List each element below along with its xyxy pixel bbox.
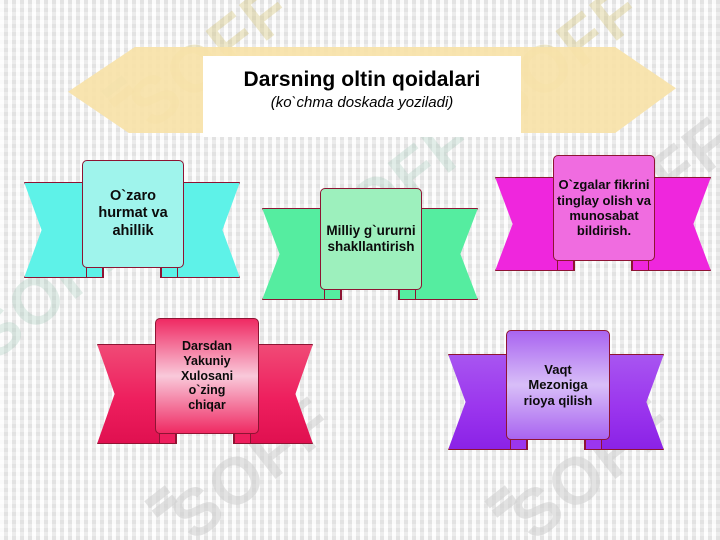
banner-line: Xulosani	[181, 369, 233, 384]
banner-line: Vaqt	[544, 362, 571, 377]
banner-line: ahillik	[112, 223, 153, 240]
banner-line: o`zing	[189, 383, 226, 398]
banner-hurmat[interactable]: O`zaro hurmat va ahillik	[24, 160, 240, 278]
banner-line: bildirish.	[577, 223, 631, 238]
banner-line: Yakuniy	[183, 354, 230, 369]
banner-line: munosabat	[569, 208, 638, 223]
banner-ozgalar-fikri[interactable]: O`zgalar fikrini tinglay olish va munosa…	[495, 155, 711, 271]
banner-milliy-gurur[interactable]: Milliy g`ururni shakllantirish	[262, 188, 478, 300]
banner-line: O`zaro	[110, 188, 156, 205]
banner-line: shakllantirish	[327, 239, 414, 255]
banner-line: hurmat va	[98, 205, 167, 222]
banner-panel: O`zgalar fikrini tinglay olish va munosa…	[553, 155, 655, 261]
banner-xulosa[interactable]: Darsdan Yakuniy Xulosani o`zing chiqar	[97, 318, 313, 444]
banner-line: Mezoniga	[528, 377, 587, 392]
banner-line: Darsdan	[182, 339, 232, 354]
banner-panel: Darsdan Yakuniy Xulosani o`zing chiqar	[155, 318, 259, 434]
banner-line: chiqar	[188, 398, 226, 413]
title-box: Darsning oltin qoidalari (ko`chma doskad…	[203, 56, 521, 137]
page-title: Darsning oltin qoidalari	[244, 69, 481, 91]
banner-line: O`zgalar fikrini	[558, 177, 649, 192]
banner-line: Milliy g`ururni	[326, 223, 415, 239]
banner-panel: Milliy g`ururni shakllantirish	[320, 188, 422, 290]
banner-panel: O`zaro hurmat va ahillik	[82, 160, 184, 268]
page-subtitle: (ko`chma doskada yoziladi)	[271, 94, 454, 111]
banner-line: tinglay olish va	[557, 193, 651, 208]
banner-line: rioya qilish	[524, 393, 593, 408]
banner-vaqt[interactable]: Vaqt Mezoniga rioya qilish	[448, 330, 664, 450]
slide-canvas: SOFF SOFF SOFF SOFF SOFF SOFF SOFF Darsn…	[0, 0, 720, 540]
banner-panel: Vaqt Mezoniga rioya qilish	[506, 330, 610, 440]
